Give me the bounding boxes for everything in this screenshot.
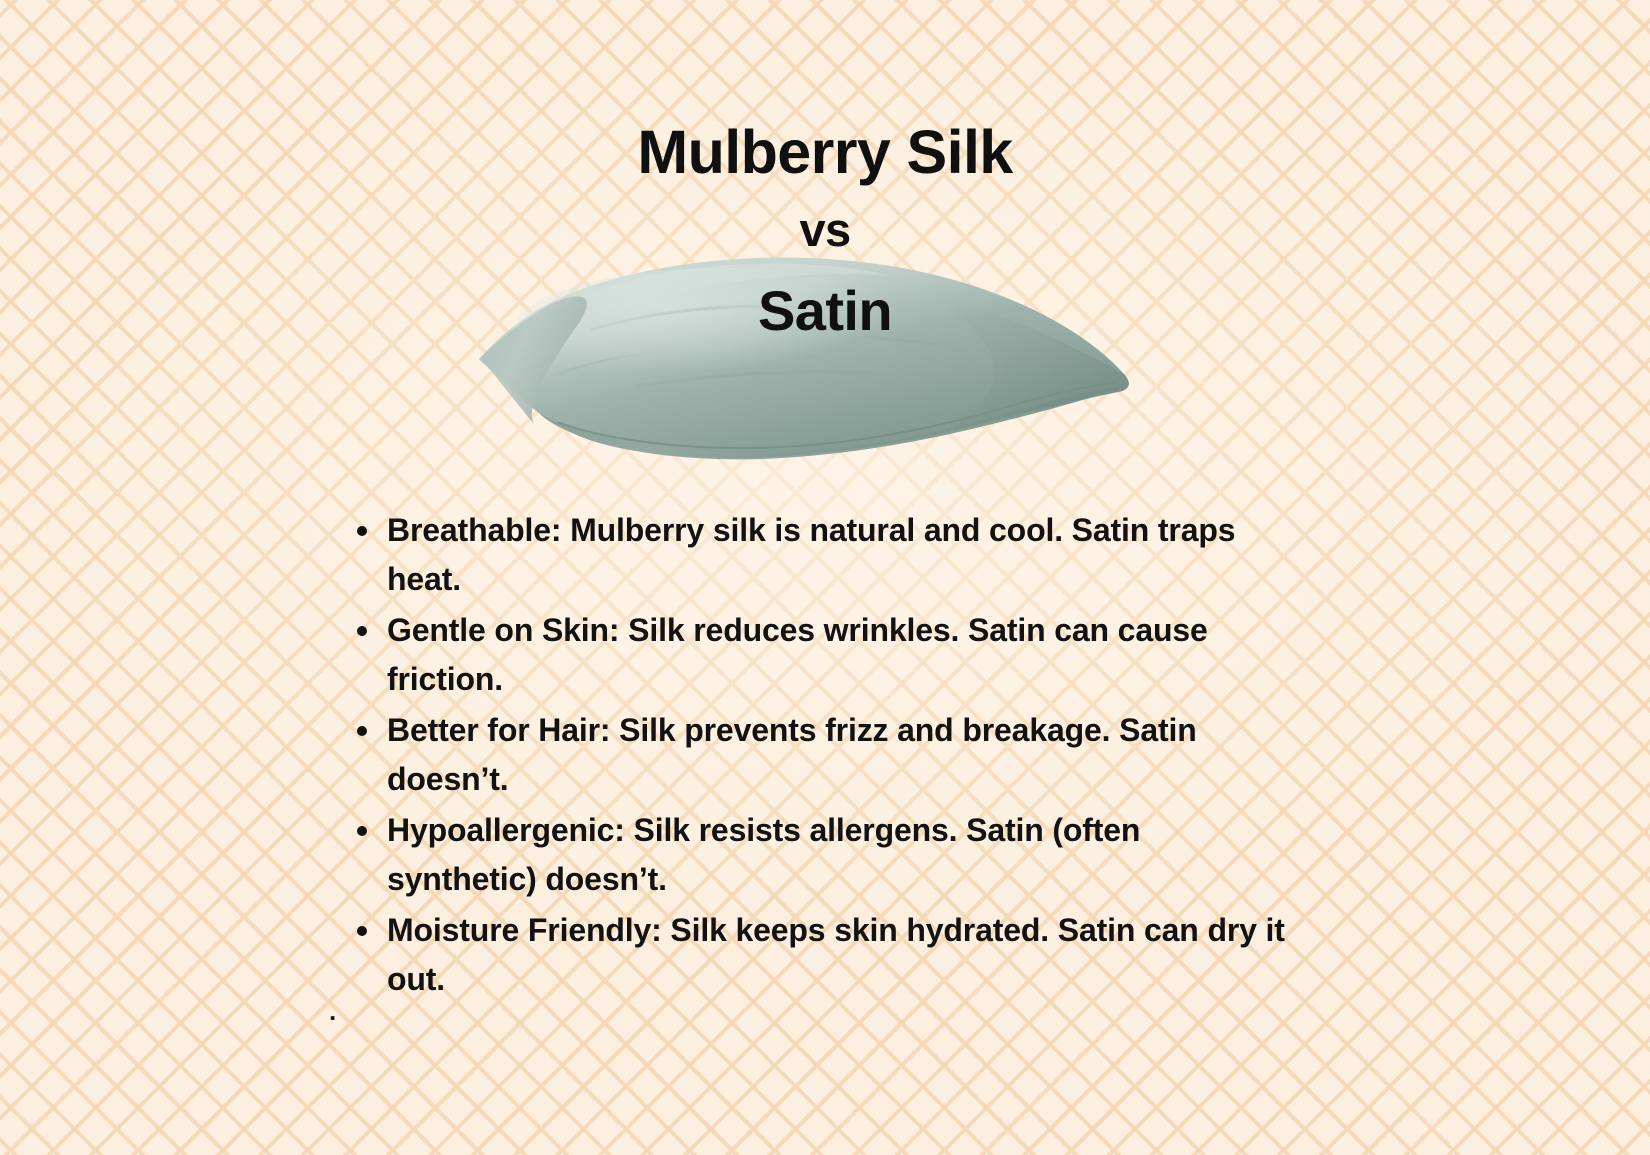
trailing-period-mark: . — [329, 998, 336, 1024]
bullet-dot-icon — [357, 526, 367, 536]
headline-line-primary: Mulberry Silk — [0, 116, 1650, 188]
list-item-text: Better for Hair: Silk prevents frizz and… — [387, 712, 1197, 797]
bullet-dot-icon — [357, 826, 367, 836]
list-item: Better for Hair: Silk prevents frizz and… — [345, 706, 1285, 804]
benefits-list: Breathable: Mulberry silk is natural and… — [345, 506, 1285, 1004]
list-item-text: Breathable: Mulberry silk is natural and… — [387, 512, 1235, 597]
list-item-text: Hypoallergenic: Silk resists allergens. … — [387, 812, 1140, 897]
list-item: Breathable: Mulberry silk is natural and… — [345, 506, 1285, 604]
headline-line-vs: vs — [0, 188, 1650, 272]
bullet-dot-icon — [357, 726, 367, 736]
bullet-dot-icon — [357, 926, 367, 936]
list-item: Gentle on Skin: Silk reduces wrinkles. S… — [345, 606, 1285, 704]
headline-block: Mulberry Silk vs Satin — [0, 116, 1650, 350]
list-item: Moisture Friendly: Silk keeps skin hydra… — [345, 906, 1285, 1004]
list-item: Hypoallergenic: Silk resists allergens. … — [345, 806, 1285, 904]
list-item-text: Moisture Friendly: Silk keeps skin hydra… — [387, 912, 1285, 997]
benefits-list-block: Breathable: Mulberry silk is natural and… — [345, 506, 1285, 1006]
headline-line-secondary: Satin — [0, 272, 1650, 350]
list-item-text: Gentle on Skin: Silk reduces wrinkles. S… — [387, 612, 1208, 697]
bullet-dot-icon — [357, 626, 367, 636]
